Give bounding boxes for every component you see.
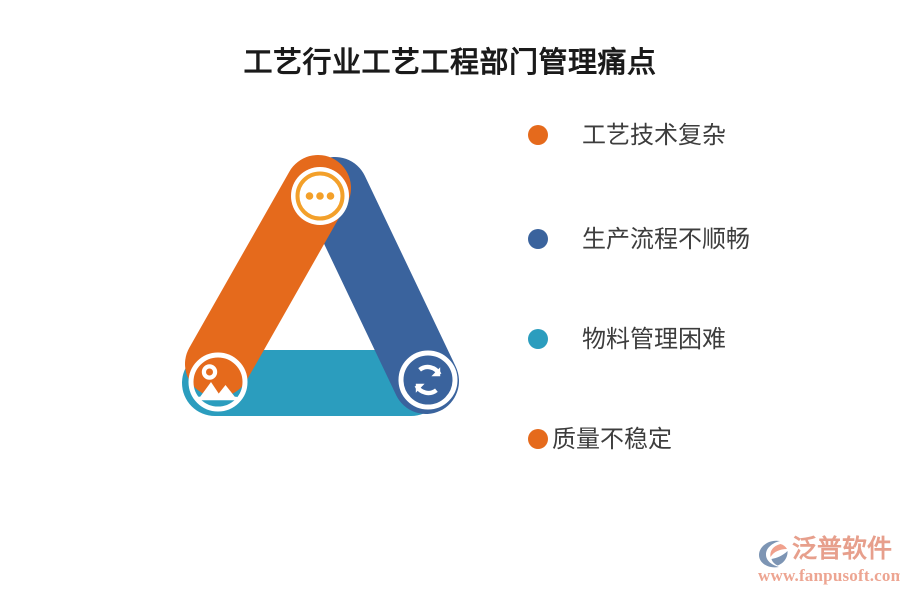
legend-item-0[interactable]: 工艺技术复杂 — [528, 122, 726, 148]
slide-canvas: 工艺行业工艺工程部门管理痛点 — [0, 0, 900, 600]
watermark-url: www.fanpusoft.com — [758, 566, 900, 586]
legend-bullet-icon — [528, 329, 548, 349]
legend-bullet-icon — [528, 229, 548, 249]
legend-item-3[interactable]: 质量不稳定 — [528, 426, 672, 452]
legend-item-label: 工艺技术复杂 — [582, 122, 726, 148]
legend-list: 工艺技术复杂 生产流程不顺畅 物料管理困难 质量不稳定 — [520, 110, 880, 480]
page-title: 工艺行业工艺工程部门管理痛点 — [0, 42, 900, 82]
watermark-brand: 泛普软件 — [792, 534, 892, 564]
legend-item-label: 生产流程不顺畅 — [582, 226, 750, 252]
legend-bullet-icon — [528, 429, 548, 449]
watermark: 泛普软件 www.fanpusoft.com — [758, 534, 894, 592]
legend-item-1[interactable]: 生产流程不顺畅 — [528, 226, 750, 252]
legend-bullet-icon — [528, 125, 548, 145]
legend-item-2[interactable]: 物料管理困难 — [528, 326, 726, 352]
triangle-infographic — [168, 148, 478, 423]
legend-item-label: 物料管理困难 — [582, 326, 726, 352]
ellipsis-icon[interactable] — [291, 167, 349, 225]
legend-item-label: 质量不稳定 — [552, 426, 672, 452]
